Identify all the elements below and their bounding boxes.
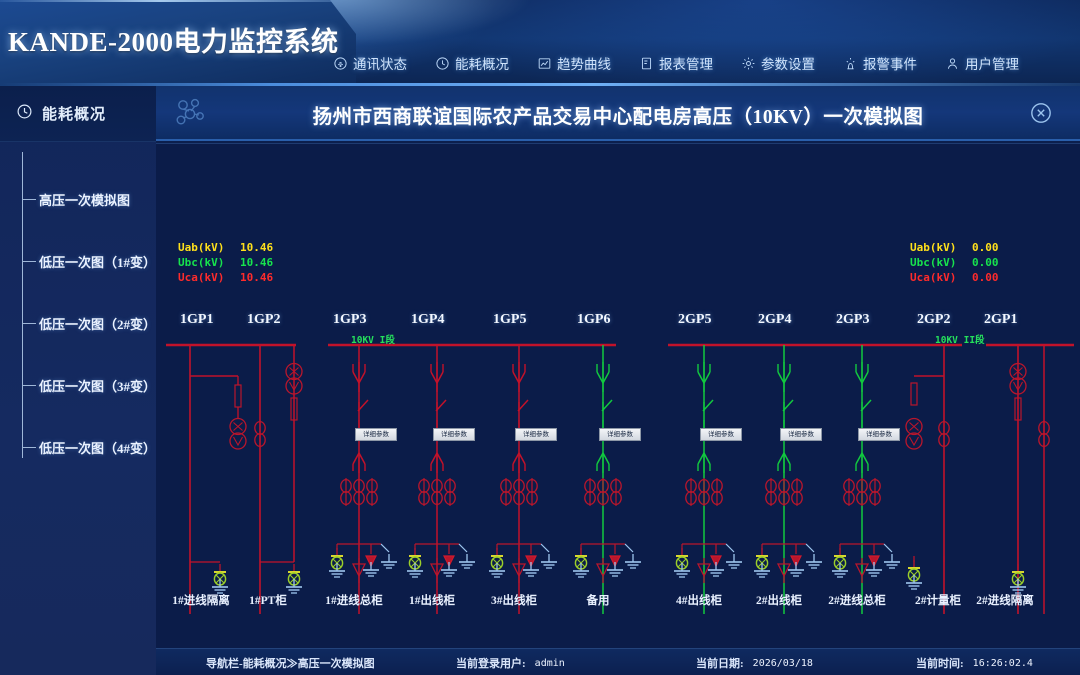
nav-item-3[interactable]: 趋势曲线 <box>534 51 614 75</box>
tree-elbow <box>22 385 36 386</box>
gear-icon <box>741 56 756 71</box>
cabinet-function-6: 备用 <box>561 592 635 608</box>
cabinet-function-11: 2#进线隔离 <box>968 592 1042 608</box>
sidebar-item-label: 低压一次图（2#变） <box>39 314 156 333</box>
signal-icon <box>333 56 348 71</box>
breadcrumb-text: 导航栏-能耗概况≫高压一次模拟图 <box>206 655 375 671</box>
app-window: KANDE-2000电力监控系统 通讯状态能耗概况趋势曲线报表管理参数设置报警事… <box>0 0 1080 675</box>
current-user-value: admin <box>535 658 565 669</box>
nav-item-label: 报警事件 <box>863 53 917 73</box>
clock-icon <box>16 103 33 125</box>
breadcrumb[interactable]: 导航栏-能耗概况≫高压一次模拟图 <box>206 655 375 671</box>
single-line-diagram: Uab(kV)10.46Ubc(kV)10.46Uca(kV)10.46 Uab… <box>156 143 1080 675</box>
sidebar-item-1[interactable]: 高压一次模拟图 <box>22 190 130 209</box>
current-date: 当前日期: 2026/03/18 <box>696 655 813 671</box>
cabinet-tag-2GP2: 2GP2 <box>917 312 950 328</box>
sidebar-header-label: 能耗概况 <box>42 103 106 124</box>
sidebar-header[interactable]: 能耗概况 <box>0 86 156 142</box>
cabinet-tag-2GP5: 2GP5 <box>678 312 711 328</box>
user-icon <box>945 56 960 71</box>
cabinet-tag-1GP3: 1GP3 <box>333 312 366 328</box>
cabinet-function-1: 1#进线隔离 <box>164 592 238 608</box>
nav-item-label: 能耗概况 <box>455 53 509 73</box>
sidebar-item-label: 低压一次图（3#变） <box>39 376 156 395</box>
cabinet-tag-1GP6: 1GP6 <box>577 312 610 328</box>
sidebar-item-5[interactable]: 低压一次图（4#变） <box>22 438 156 457</box>
tree-elbow <box>22 261 36 262</box>
report-icon <box>639 56 654 71</box>
alarm-icon <box>843 56 858 71</box>
current-date-label: 当前日期: <box>696 655 744 671</box>
current-date-value: 2026/03/18 <box>753 658 813 669</box>
status-bar: 导航栏-能耗概况≫高压一次模拟图 当前登录用户: admin 当前日期: 202… <box>156 648 1080 675</box>
cabinet-tag-1GP2: 1GP2 <box>247 312 280 328</box>
cabinet-function-3: 1#进线总柜 <box>317 592 391 608</box>
panel-title-bar: 扬州市西商联谊国际农产品交易中心配电房高压（10KV）一次模拟图 <box>156 86 1080 141</box>
sidebar-item-2[interactable]: 低压一次图（1#变） <box>22 252 156 271</box>
sidebar-item-label: 低压一次图（4#变） <box>39 438 156 457</box>
sidebar-item-4[interactable]: 低压一次图（3#变） <box>22 376 156 395</box>
nav-item-4[interactable]: 报表管理 <box>636 51 716 75</box>
current-user: 当前登录用户: admin <box>456 655 565 671</box>
chart-icon <box>537 56 552 71</box>
param-detail-button[interactable]: 详细参数 <box>700 428 742 441</box>
nav-item-label: 参数设置 <box>761 53 815 73</box>
cabinet-tag-2GP3: 2GP3 <box>836 312 869 328</box>
cabinet-function-10: 2#计量柜 <box>901 592 975 608</box>
cabinet-function-7: 4#出线柜 <box>662 592 736 608</box>
tree-elbow <box>22 447 36 448</box>
cabinet-tag-1GP5: 1GP5 <box>493 312 526 328</box>
nav-item-label: 通讯状态 <box>353 53 407 73</box>
nav-item-7[interactable]: 用户管理 <box>942 51 1022 75</box>
app-title: KANDE-2000电力监控系统 <box>8 20 339 59</box>
param-detail-button[interactable]: 详细参数 <box>355 428 397 441</box>
nav-item-2[interactable]: 能耗概况 <box>432 51 512 75</box>
sidebar-item-label: 高压一次模拟图 <box>39 190 130 209</box>
tree-elbow <box>22 323 36 324</box>
nav-item-5[interactable]: 参数设置 <box>738 51 818 75</box>
busbar-label-2: 10KV II段 <box>935 332 985 346</box>
nav-item-label: 趋势曲线 <box>557 53 611 73</box>
current-time: 当前时间: 16:26:02.4 <box>916 655 1033 671</box>
current-time-value: 16:26:02.4 <box>973 658 1033 669</box>
cabinet-tag-2GP1: 2GP1 <box>984 312 1017 328</box>
nav-item-label: 报表管理 <box>659 53 713 73</box>
cabinet-function-9: 2#进线总柜 <box>820 592 894 608</box>
cabinet-function-4: 1#出线柜 <box>395 592 469 608</box>
param-detail-button[interactable]: 详细参数 <box>599 428 641 441</box>
current-time-label: 当前时间: <box>916 655 964 671</box>
clock-icon <box>435 56 450 71</box>
param-detail-button[interactable]: 详细参数 <box>433 428 475 441</box>
cabinet-tag-1GP1: 1GP1 <box>180 312 213 328</box>
param-detail-button[interactable]: 详细参数 <box>515 428 557 441</box>
param-detail-button[interactable]: 详细参数 <box>858 428 900 441</box>
busbar-label-1: 10KV I段 <box>351 332 395 346</box>
main-nav: 通讯状态能耗概况趋势曲线报表管理参数设置报警事件用户管理 <box>330 46 1022 80</box>
sidebar-item-label: 低压一次图（1#变） <box>39 252 156 271</box>
main-panel: 扬州市西商联谊国际农产品交易中心配电房高压（10KV）一次模拟图 Uab(kV)… <box>156 86 1080 675</box>
close-icon[interactable] <box>1030 102 1052 124</box>
nav-item-6[interactable]: 报警事件 <box>840 51 920 75</box>
tree-elbow <box>22 199 36 200</box>
nav-item-label: 用户管理 <box>965 53 1019 73</box>
cabinet-function-5: 3#出线柜 <box>477 592 551 608</box>
cabinet-tag-2GP4: 2GP4 <box>758 312 791 328</box>
current-user-label: 当前登录用户: <box>456 655 526 671</box>
sidebar-tree: 高压一次模拟图低压一次图（1#变）低压一次图（2#变）低压一次图（3#变）低压一… <box>0 142 156 675</box>
cabinet-function-2: 1#PT柜 <box>231 592 305 608</box>
sidebar: 能耗概况 高压一次模拟图低压一次图（1#变）低压一次图（2#变）低压一次图（3#… <box>0 86 156 675</box>
cabinet-tag-1GP4: 1GP4 <box>411 312 444 328</box>
sidebar-item-3[interactable]: 低压一次图（2#变） <box>22 314 156 333</box>
param-detail-button[interactable]: 详细参数 <box>780 428 822 441</box>
app-header: KANDE-2000电力监控系统 通讯状态能耗概况趋势曲线报表管理参数设置报警事… <box>0 0 1080 86</box>
nav-item-1[interactable]: 通讯状态 <box>330 51 410 75</box>
page-title: 扬州市西商联谊国际农产品交易中心配电房高压（10KV）一次模拟图 <box>156 100 1080 129</box>
cabinet-function-8: 2#出线柜 <box>742 592 816 608</box>
